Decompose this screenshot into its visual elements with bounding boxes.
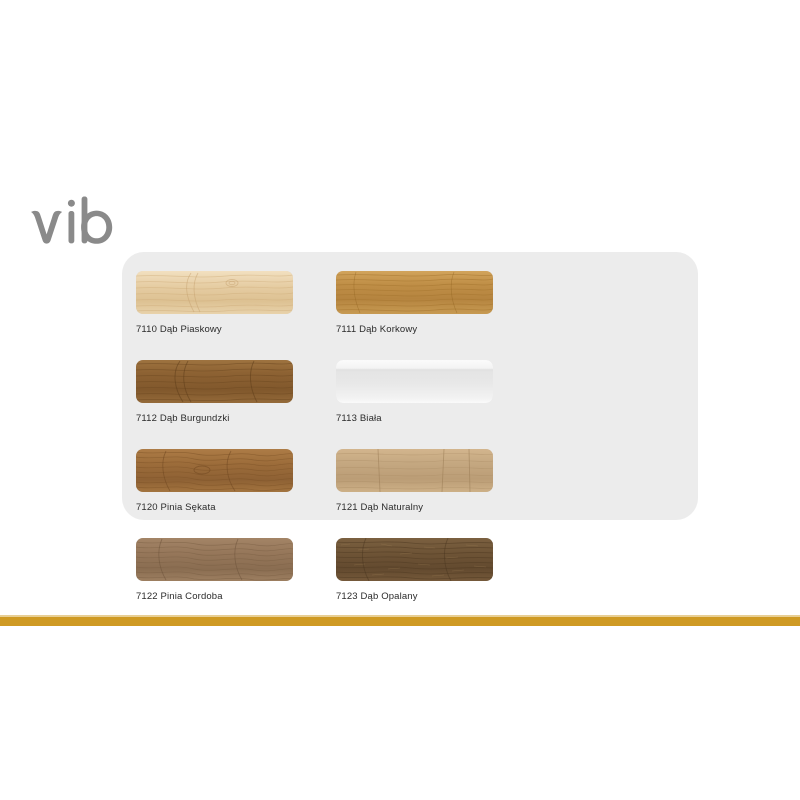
swatch-label-7112: 7112 Dąb Burgundzki <box>136 413 230 425</box>
swatch-chip-7111[interactable] <box>336 271 493 314</box>
swatch-label-7123: 7123 Dąb Opalany <box>336 591 418 603</box>
wood-grain-icon <box>136 360 293 403</box>
decor-swatch-card: 7110 Dąb Piaskowy <box>122 252 698 520</box>
wood-grain-icon <box>136 271 293 314</box>
swatch-chip-7122[interactable] <box>136 538 293 581</box>
swatch-item-7121[interactable]: 7121 Dąb Naturalny <box>336 449 536 538</box>
white-panel-icon <box>336 360 493 403</box>
swatch-label-7113: 7113 Biała <box>336 413 382 425</box>
wood-grain-icon <box>136 449 293 492</box>
swatch-label-7111: 7111 Dąb Korkowy <box>336 324 417 336</box>
page-root: vilo <box>0 0 800 800</box>
wood-grain-icon <box>136 538 293 581</box>
swatch-item-7111[interactable]: 7111 Dąb Korkowy <box>336 271 536 360</box>
swatch-label-7110: 7110 Dąb Piaskowy <box>136 324 222 336</box>
wood-grain-icon <box>336 538 493 581</box>
swatch-item-7110[interactable]: 7110 Dąb Piaskowy <box>136 271 336 360</box>
swatch-item-7120[interactable]: 7120 Pinia Sękata <box>136 449 336 538</box>
swatch-label-7122: 7122 Pinia Cordoba <box>136 591 223 603</box>
swatch-chip-7123[interactable] <box>336 538 493 581</box>
swatch-item-7112[interactable]: 7112 Dąb Burgundzki <box>136 360 336 449</box>
swatch-label-7121: 7121 Dąb Naturalny <box>336 502 423 514</box>
vilo-logo: vilo <box>28 196 138 252</box>
swatch-item-7123[interactable]: 7123 Dąb Opalany <box>336 538 536 627</box>
gold-accent-bar-highlight <box>0 615 800 617</box>
vilo-logo-icon <box>28 196 138 252</box>
swatch-label-7120: 7120 Pinia Sękata <box>136 502 216 514</box>
decor-swatch-grid: 7110 Dąb Piaskowy <box>136 271 688 716</box>
swatch-item-7122[interactable]: 7122 Pinia Cordoba <box>136 538 336 627</box>
swatch-item-7113[interactable]: 7113 Biała <box>336 360 536 449</box>
wood-grain-icon <box>336 271 493 314</box>
swatch-chip-7110[interactable] <box>136 271 293 314</box>
swatch-chip-7113[interactable] <box>336 360 493 403</box>
gold-accent-bar <box>0 615 800 626</box>
swatch-chip-7120[interactable] <box>136 449 293 492</box>
swatch-chip-7121[interactable] <box>336 449 493 492</box>
wood-grain-icon <box>336 449 493 492</box>
swatch-chip-7112[interactable] <box>136 360 293 403</box>
